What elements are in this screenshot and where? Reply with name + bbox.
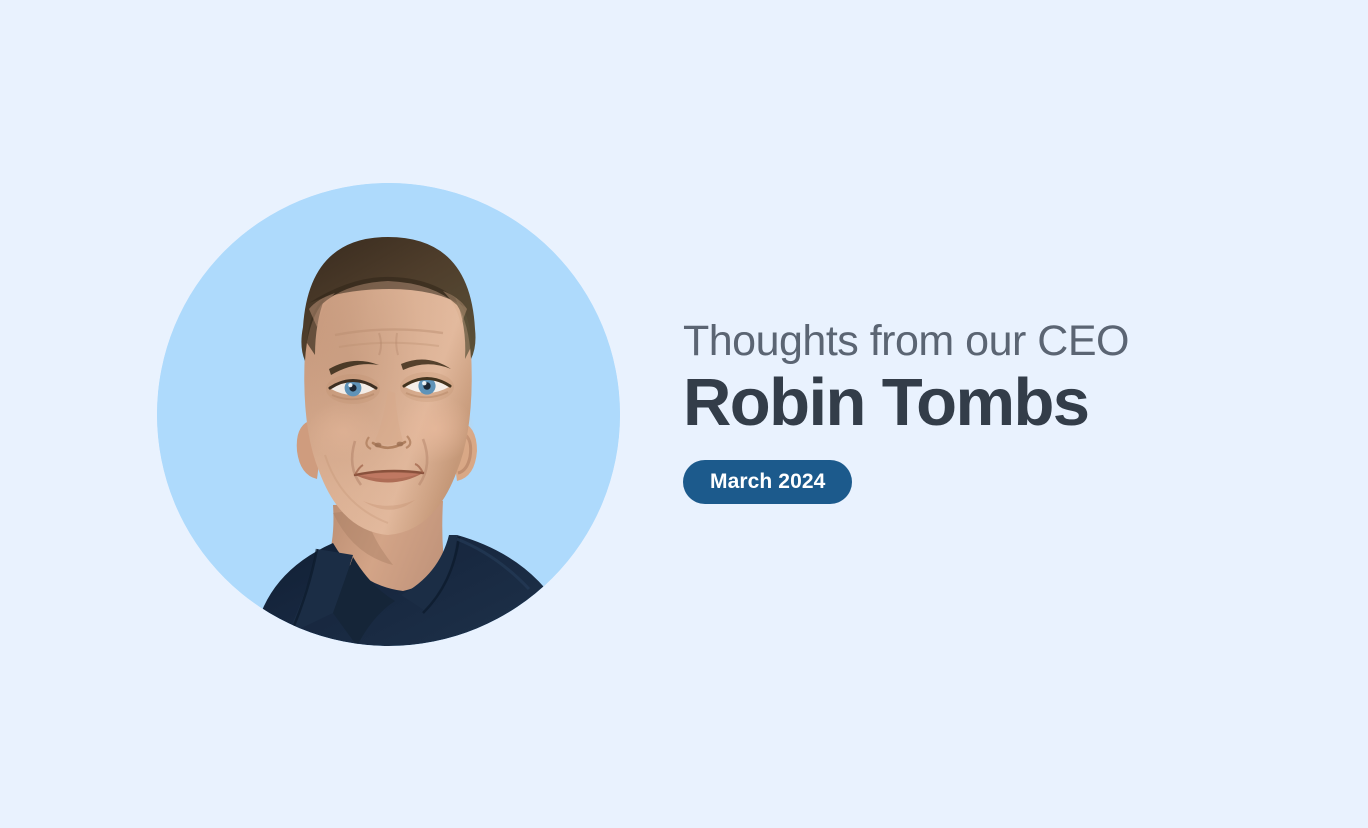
eyebrow-text: Thoughts from our CEO: [683, 318, 1243, 364]
date-badge[interactable]: March 2024: [683, 460, 852, 504]
avatar-circle-background: [157, 183, 620, 646]
eye-left: [330, 380, 376, 400]
avatar: [157, 183, 620, 646]
headline-block: Thoughts from our CEO Robin Tombs March …: [683, 318, 1243, 504]
page-title: Robin Tombs: [683, 368, 1243, 438]
portrait-illustration: [157, 183, 620, 646]
ceo-message-banner: Thoughts from our CEO Robin Tombs March …: [0, 0, 1368, 828]
